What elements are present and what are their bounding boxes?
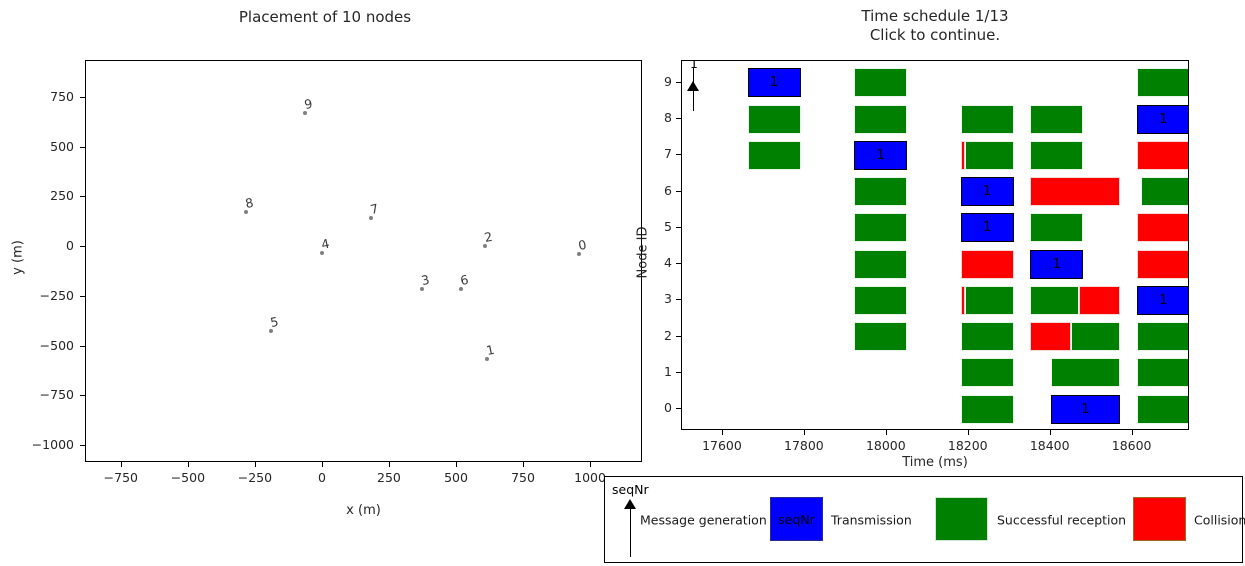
schedule-ytick-label: 3 bbox=[630, 291, 672, 306]
legend-label-collision: Collision bbox=[1194, 512, 1245, 527]
scatter-ytick-label: −500 bbox=[0, 338, 74, 353]
schedule-ytick-label: 4 bbox=[630, 255, 672, 270]
schedule-ytick-label: 7 bbox=[630, 146, 672, 161]
schedule-bar-seqnr: 1 bbox=[877, 149, 885, 162]
legend-label-transmission: Transmission bbox=[831, 512, 912, 527]
scatter-xtick bbox=[121, 462, 122, 467]
schedule-bar-reception bbox=[961, 322, 1014, 351]
schedule-bar-seqnr: 1 bbox=[1053, 258, 1061, 271]
scatter-y-axis-label: y (m) bbox=[11, 223, 26, 293]
schedule-ytick-label: 0 bbox=[630, 400, 672, 415]
scatter-ytick-label: 0 bbox=[0, 238, 74, 253]
scatter-ytick bbox=[80, 445, 85, 446]
schedule-xtick-label: 18200 bbox=[923, 438, 1013, 453]
schedule-bar-reception bbox=[965, 286, 1014, 315]
schedule-bar-seqnr: 1 bbox=[983, 221, 991, 234]
schedule-ytick-label: 5 bbox=[630, 219, 672, 234]
schedule-bar-reception bbox=[854, 250, 907, 279]
legend-label-message-generation: Message generation bbox=[640, 512, 767, 527]
scatter-ytick bbox=[80, 296, 85, 297]
schedule-ytick bbox=[676, 118, 681, 119]
schedule-xtick-label: 18000 bbox=[841, 438, 931, 453]
schedule-ytick bbox=[676, 372, 681, 373]
legend-arrow-head bbox=[624, 499, 636, 509]
scatter-ytick-label: 500 bbox=[0, 139, 74, 154]
schedule-plot-area[interactable]: 11111111 1 bbox=[681, 60, 1189, 430]
legend-seqnr-label: seqNr bbox=[612, 482, 649, 497]
schedule-bar-transmission: 1 bbox=[1137, 105, 1189, 134]
schedule-ytick-label: 8 bbox=[630, 110, 672, 125]
schedule-bar-reception bbox=[1030, 141, 1083, 170]
schedule-bar-reception bbox=[748, 105, 801, 134]
scatter-ytick bbox=[80, 196, 85, 197]
scatter-ytick bbox=[80, 346, 85, 347]
schedule-bar-reception bbox=[854, 322, 907, 351]
legend-label-reception: Successful reception bbox=[997, 512, 1126, 527]
schedule-bar-reception bbox=[854, 213, 907, 242]
schedule-bar-reception bbox=[748, 141, 801, 170]
schedule-ytick bbox=[676, 263, 681, 264]
schedule-xtick bbox=[1050, 430, 1051, 435]
legend-swatch-transmission: seqNr bbox=[770, 497, 823, 541]
schedule-bar-reception bbox=[1071, 322, 1120, 351]
schedule-bar-collision bbox=[1030, 177, 1120, 206]
schedule-bar-collision bbox=[1030, 322, 1071, 351]
schedule-bar-seqnr: 1 bbox=[770, 76, 778, 89]
scatter-ytick-label: −250 bbox=[0, 288, 74, 303]
schedule-bar-reception bbox=[854, 177, 907, 206]
schedule-bar-transmission: 1 bbox=[1137, 286, 1189, 315]
schedule-bar-reception bbox=[961, 105, 1014, 134]
schedule-ytick bbox=[676, 408, 681, 409]
schedule-ytick-label: 2 bbox=[630, 328, 672, 343]
scatter-xtick bbox=[255, 462, 256, 467]
scatter-xtick bbox=[590, 462, 591, 467]
schedule-bar-collision bbox=[1137, 250, 1189, 279]
schedule-ytick bbox=[676, 154, 681, 155]
schedule-bar-reception bbox=[965, 141, 1014, 170]
schedule-xtick-label: 17800 bbox=[759, 438, 849, 453]
schedule-bar-collision bbox=[1137, 213, 1189, 242]
schedule-bar-reception bbox=[1137, 395, 1189, 424]
schedule-bar-transmission: 1 bbox=[854, 141, 907, 170]
schedule-bar-collision bbox=[1137, 141, 1189, 170]
schedule-xtick-label: 18400 bbox=[1005, 438, 1095, 453]
scatter-xtick bbox=[456, 462, 457, 467]
schedule-title: Time schedule 1/13 bbox=[681, 7, 1189, 25]
scatter-ytick bbox=[80, 395, 85, 396]
schedule-bar-seqnr: 1 bbox=[983, 185, 991, 198]
scatter-ytick-label: −750 bbox=[0, 387, 74, 402]
schedule-xtick bbox=[886, 430, 887, 435]
schedule-ytick-label: 9 bbox=[630, 74, 672, 89]
schedule-bar-collision bbox=[961, 250, 1014, 279]
schedule-ytick bbox=[676, 227, 681, 228]
schedule-subtitle: Click to continue. bbox=[681, 26, 1189, 44]
scatter-ytick bbox=[80, 246, 85, 247]
scatter-ytick bbox=[80, 97, 85, 98]
schedule-bar-transmission: 1 bbox=[1030, 250, 1083, 279]
legend-swatch-reception bbox=[935, 497, 988, 541]
legend-arrow-line bbox=[630, 505, 631, 557]
scatter-plot-area bbox=[85, 60, 642, 462]
schedule-bar-seqnr: 1 bbox=[1081, 403, 1089, 416]
scatter-ytick-label: −1000 bbox=[0, 437, 74, 452]
schedule-bar-transmission: 1 bbox=[1051, 395, 1121, 424]
schedule-bar-reception bbox=[961, 358, 1014, 387]
scatter-x-axis-label: x (m) bbox=[85, 503, 642, 518]
scatter-xtick bbox=[523, 462, 524, 467]
scatter-ytick-label: 250 bbox=[0, 188, 74, 203]
schedule-bar-reception bbox=[1137, 358, 1189, 387]
schedule-bar-transmission: 1 bbox=[961, 177, 1014, 206]
schedule-bar-reception bbox=[1030, 286, 1079, 315]
generation-seq-label: 1 bbox=[690, 60, 698, 71]
schedule-xtick bbox=[804, 430, 805, 435]
schedule-ytick bbox=[676, 82, 681, 83]
schedule-xtick bbox=[1132, 430, 1133, 435]
schedule-bar-transmission: 1 bbox=[961, 213, 1014, 242]
schedule-bar-reception bbox=[1141, 177, 1189, 206]
schedule-bar-reception bbox=[961, 395, 1014, 424]
scatter-ytick bbox=[80, 147, 85, 148]
scatter-ytick-label: 750 bbox=[0, 89, 74, 104]
schedule-ytick bbox=[676, 336, 681, 337]
schedule-ytick-label: 6 bbox=[630, 183, 672, 198]
schedule-bar-reception bbox=[854, 105, 907, 134]
schedule-xtick bbox=[968, 430, 969, 435]
schedule-bar-reception bbox=[1030, 105, 1083, 134]
scatter-xtick bbox=[188, 462, 189, 467]
schedule-bar-reception bbox=[854, 68, 907, 97]
schedule-xtick-label: 17600 bbox=[677, 438, 767, 453]
legend-swatch-collision bbox=[1133, 497, 1186, 541]
schedule-bar-reception bbox=[1137, 322, 1189, 351]
schedule-bar-reception bbox=[1137, 68, 1189, 97]
scatter-xtick bbox=[322, 462, 323, 467]
schedule-xtick-label: 18600 bbox=[1087, 438, 1177, 453]
schedule-bar-seqnr: 1 bbox=[1159, 113, 1167, 126]
scatter-title: Placement of 10 nodes bbox=[0, 8, 650, 26]
schedule-ytick bbox=[676, 191, 681, 192]
legend-box: seqNr Message generation seqNr Transmiss… bbox=[604, 476, 1243, 563]
schedule-bar-seqnr: 1 bbox=[1159, 294, 1167, 307]
schedule-ytick bbox=[676, 299, 681, 300]
schedule-bar-reception bbox=[1051, 358, 1121, 387]
schedule-bar-collision bbox=[1079, 286, 1120, 315]
schedule-bar-reception bbox=[854, 286, 907, 315]
node-placement-chart: Placement of 10 nodes y (m) x (m) −750−5… bbox=[0, 0, 650, 566]
schedule-bar-reception bbox=[1030, 213, 1083, 242]
generation-arrow-head bbox=[687, 81, 699, 91]
scatter-xtick bbox=[389, 462, 390, 467]
schedule-ytick-label: 1 bbox=[630, 364, 672, 379]
schedule-bar-transmission: 1 bbox=[748, 68, 801, 97]
schedule-xtick bbox=[722, 430, 723, 435]
legend-swatch-seqnr-text: seqNr bbox=[778, 512, 815, 527]
schedule-x-axis-label: Time (ms) bbox=[681, 455, 1189, 470]
